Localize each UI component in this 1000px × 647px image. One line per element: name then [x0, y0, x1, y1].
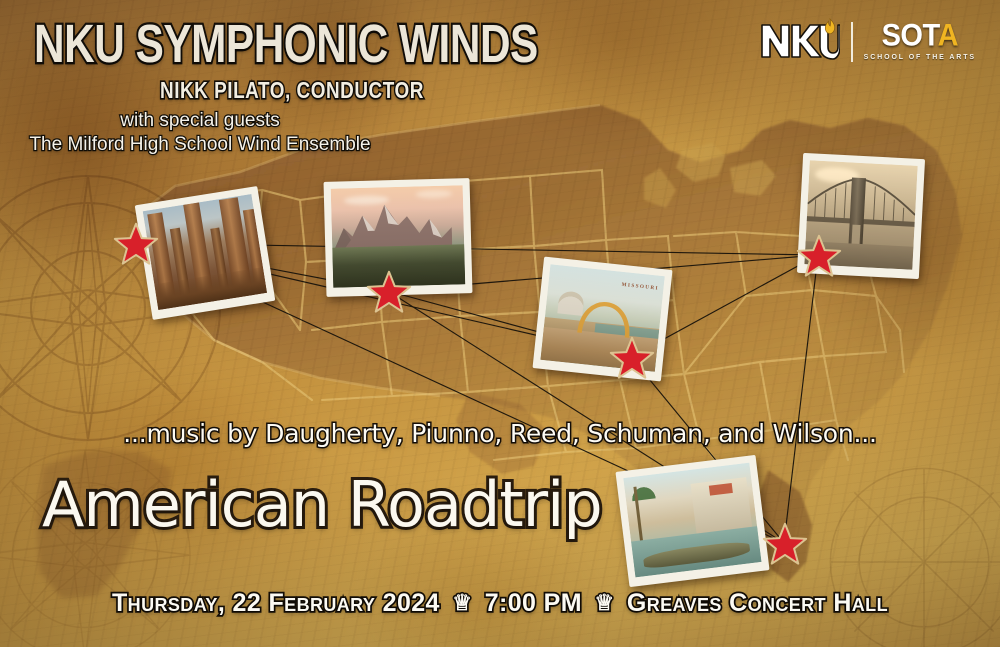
postcard-redwood-forest [135, 186, 276, 320]
nku-letters-icon [760, 17, 840, 61]
footer-venue: Greaves Concert Hall [627, 589, 888, 617]
concert-poster: MISSOURI [0, 0, 1000, 647]
guest-line-1: with special guests [0, 110, 1000, 132]
sota-wordmark: SOTA [882, 21, 958, 52]
suspension-cables-icon [804, 160, 917, 270]
footer-time: 7:00 PM [485, 589, 582, 617]
guest-line-2: The Milford High School Wind Ensemble [0, 134, 1000, 156]
composers-line: ...music by Daugherty, Piunno, Reed, Sch… [0, 419, 1000, 448]
footer-date: Thursday, 22 February 2024 [112, 589, 440, 617]
footer-details: Thursday, 22 February 2024 ♕ 7:00 PM ♕ G… [0, 589, 1000, 618]
postcard-rocky-mountains [324, 178, 473, 297]
sota-text: SOT [882, 19, 938, 54]
nku-logomark [760, 17, 840, 66]
crown-ornament-icon-2: ♕ [589, 590, 619, 616]
conductor-line: NIKK PILATO, CONDUCTOR [160, 78, 424, 105]
gateway-arch-icon [573, 275, 638, 339]
postcard-st-louis-arch: MISSOURI [532, 257, 672, 382]
page-title-ensemble: NKU SYMPHONIC WINDS [34, 12, 538, 75]
postcard-suspension-bridge [797, 153, 925, 279]
postcard-florida-alligator [615, 455, 769, 587]
postcard-caption-missouri: MISSOURI [621, 281, 659, 291]
star-marker-florida [762, 521, 808, 567]
nku-sota-logo[interactable]: SOTA SCHOOL OF THE ARTS [760, 17, 976, 66]
sota-subtitle: SCHOOL OF THE ARTS [864, 54, 976, 61]
concert-title: American Roadtrip [42, 468, 602, 541]
flame-icon [825, 19, 834, 34]
sota-accent-letter: A [938, 19, 958, 54]
logo-divider [851, 22, 853, 62]
mountain-peaks-icon [331, 199, 452, 254]
crown-ornament-icon: ♕ [447, 590, 477, 616]
